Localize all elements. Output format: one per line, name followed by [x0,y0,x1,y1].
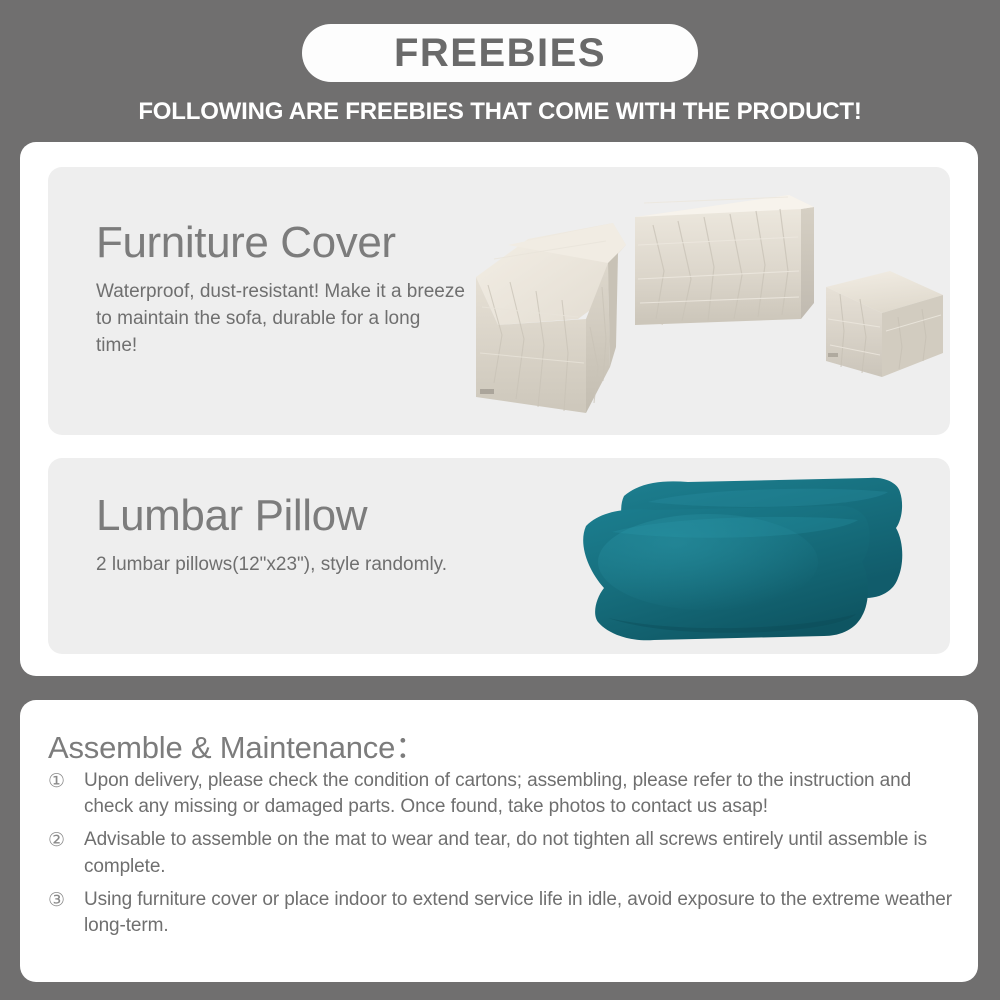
list-item-marker: ① [48,768,84,795]
cover-piece-sectional [476,223,626,413]
freebies-badge-label: FREEBIES [394,33,606,73]
list-item-text: Upon delivery, please check the conditio… [84,768,953,820]
freebies-badge: FREEBIES [302,24,698,82]
list-item: ② Advisable to assemble on the mat to we… [48,827,953,879]
furniture-cover-text-block: Furniture Cover Waterproof, dust-resista… [96,221,466,360]
cover-piece-sofa [635,195,814,325]
list-item-text: Advisable to assemble on the mat to wear… [84,827,953,879]
assemble-maintenance-heading: Assemble & Maintenance： [48,722,426,767]
assemble-maintenance-list: ① Upon delivery, please check the condit… [48,768,953,946]
furniture-cover-heading: Furniture Cover [96,221,466,265]
cover-piece-ottoman [826,271,943,377]
list-item-text: Using furniture cover or place indoor to… [84,887,953,939]
assemble-maintenance-card: Assemble & Maintenance： ① Upon delivery,… [20,700,978,982]
pillow-front [583,506,869,641]
list-item: ① Upon delivery, please check the condit… [48,768,953,820]
page-header: FREEBIES FOLLOWING ARE FREEBIES THAT COM… [0,0,1000,138]
list-item: ③ Using furniture cover or place indoor … [48,887,953,939]
page-subtitle: FOLLOWING ARE FREEBIES THAT COME WITH TH… [0,98,1000,126]
lumbar-pillow-image [568,458,948,654]
lumbar-pillow-description: 2 lumbar pillows(12"x23"), style randoml… [96,552,447,579]
freebies-card: Furniture Cover Waterproof, dust-resista… [20,142,978,676]
freebie-panel-lumbar-pillow: Lumbar Pillow 2 lumbar pillows(12"x23"),… [48,458,950,654]
lumbar-pillow-text-block: Lumbar Pillow 2 lumbar pillows(12"x23"),… [96,494,447,579]
lumbar-pillow-heading: Lumbar Pillow [96,494,447,538]
freebie-panel-furniture-cover: Furniture Cover Waterproof, dust-resista… [48,167,950,435]
furniture-cover-description: Waterproof, dust-resistant! Make it a br… [96,279,466,360]
list-item-marker: ③ [48,887,84,914]
list-item-marker: ② [48,827,84,854]
furniture-cover-image [458,167,950,435]
